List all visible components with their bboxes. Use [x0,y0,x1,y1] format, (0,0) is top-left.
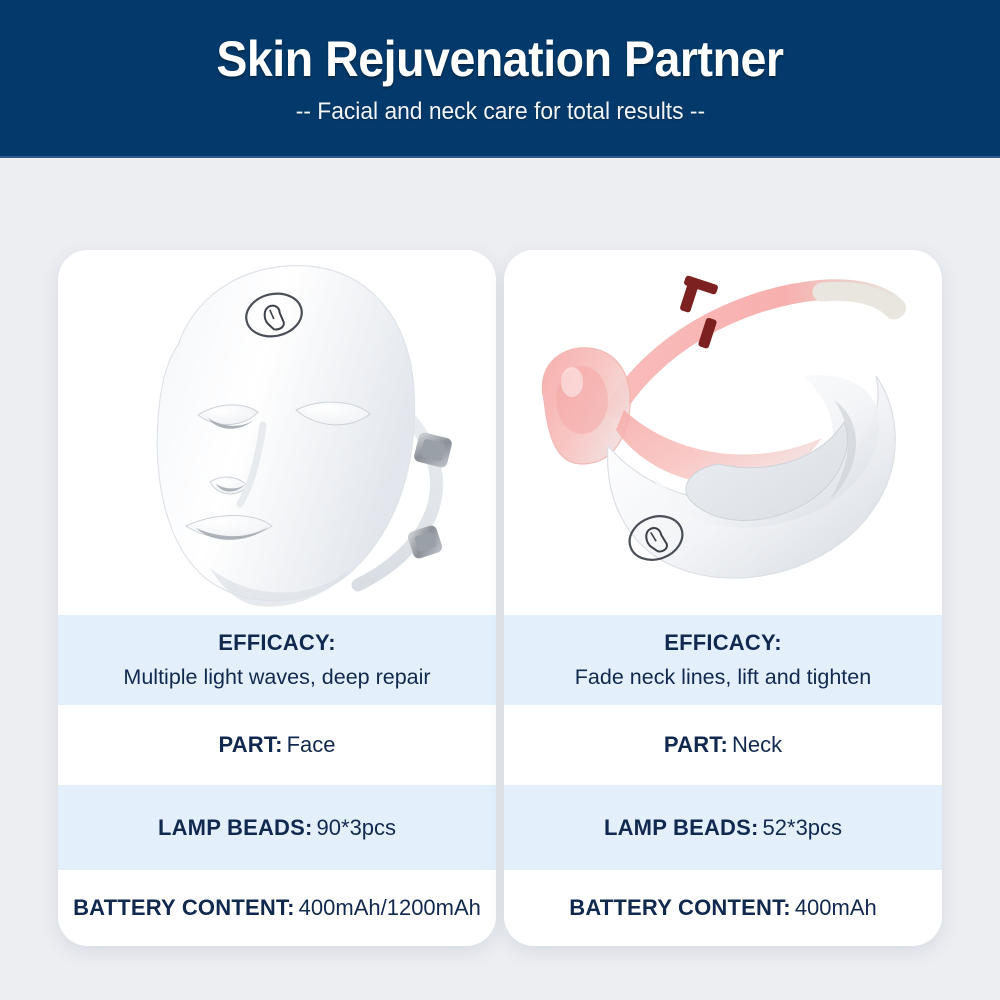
spec-value-battery-content: 400mAh/1200mAh [299,895,481,920]
spec-row-part: PART:Face [58,705,496,785]
spec-row-battery-content: BATTERY CONTENT:400mAh/1200mAh [58,870,496,945]
spec-label-battery-content: BATTERY CONTENT: [569,895,791,920]
product-photo-neck-device [504,250,942,615]
mask-strap-clip-upper [413,431,453,468]
spec-list-neck-device: EFFICACY: Fade neck lines, lift and tigh… [504,615,942,946]
infographic-page: Skin Rejuvenation Partner -- Facial and … [0,0,1000,1000]
product-photo-face-mask [58,250,496,615]
mask-strap-clip-lower [406,524,443,560]
product-card-face-mask[interactable]: EFFICACY: Multiple light waves, deep rep… [58,250,496,946]
spec-list-face-mask: EFFICACY: Multiple light waves, deep rep… [58,615,496,946]
product-comparison: EFFICACY: Multiple light waves, deep rep… [58,250,942,946]
spec-row-lamp-beads: LAMP BEADS:90*3pcs [58,785,496,870]
spec-label-efficacy: EFFICACY: [664,630,782,656]
spec-value-battery-content: 400mAh [795,895,877,920]
face-mask-illustration [58,250,496,622]
spec-row-efficacy: EFFICACY: Multiple light waves, deep rep… [58,615,496,705]
spec-row-efficacy: EFFICACY: Fade neck lines, lift and tigh… [504,615,942,705]
spec-value-lamp-beads: 52*3pcs [763,815,843,840]
page-title: Skin Rejuvenation Partner [216,34,783,84]
mask-body [157,266,414,601]
spec-value-efficacy: Fade neck lines, lift and tighten [575,665,871,690]
neck-pink-pod-highlight [561,367,583,397]
spec-label-efficacy: EFFICACY: [218,630,336,656]
spec-value-part: Neck [732,732,782,757]
spec-label-lamp-beads: LAMP BEADS: [158,815,313,840]
spec-value-part: Face [287,732,336,757]
neck-device-illustration [504,250,942,622]
spec-label-part: PART: [218,732,282,757]
spec-label-battery-content: BATTERY CONTENT: [73,895,295,920]
header-banner: Skin Rejuvenation Partner -- Facial and … [0,0,1000,158]
neck-strap-velcro [822,291,894,310]
spec-value-efficacy: Multiple light waves, deep repair [123,665,430,690]
spec-label-lamp-beads: LAMP BEADS: [604,815,759,840]
page-subtitle: -- Facial and neck care for total result… [295,100,704,124]
spec-value-lamp-beads: 90*3pcs [317,815,397,840]
spec-row-battery-content: BATTERY CONTENT:400mAh [504,870,942,945]
spec-row-part: PART:Neck [504,705,942,785]
product-card-neck-device[interactable]: EFFICACY: Fade neck lines, lift and tigh… [504,250,942,946]
spec-label-part: PART: [664,732,728,757]
spec-row-lamp-beads: LAMP BEADS:52*3pcs [504,785,942,870]
